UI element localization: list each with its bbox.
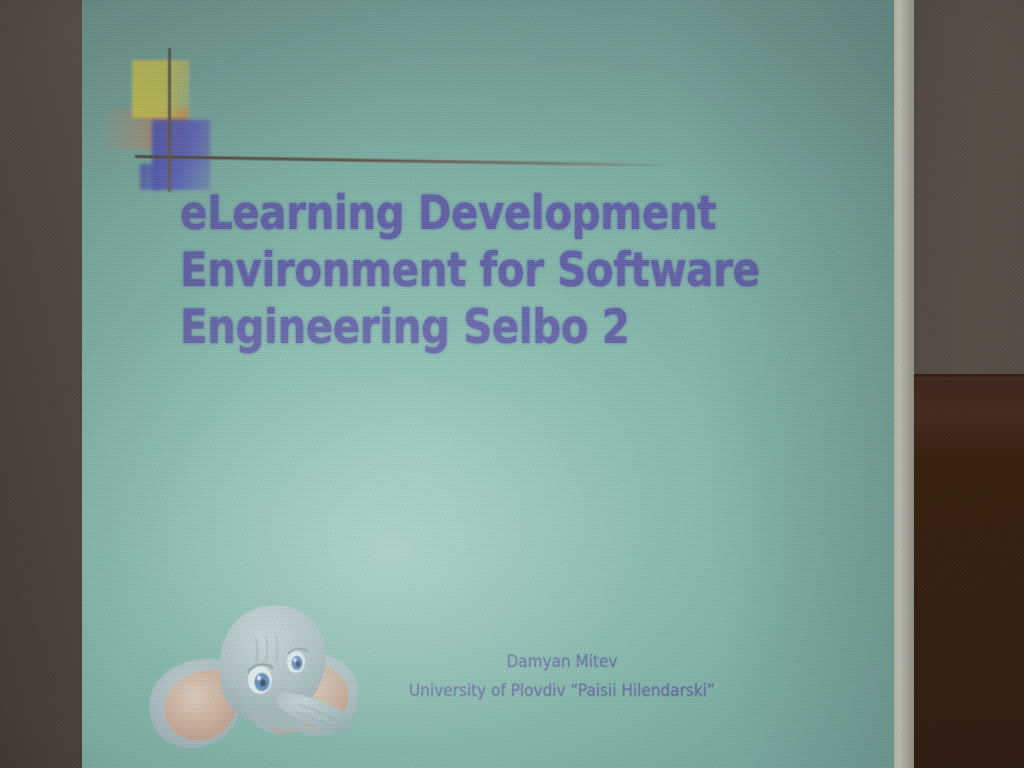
yellow-square-icon — [132, 60, 190, 118]
slide-title-line-3: Engineering Selbo 2 — [180, 299, 748, 356]
credits-affiliation: University of Plovdiv “Paisii Hilendarsk… — [310, 677, 814, 706]
vertical-rule — [168, 48, 171, 192]
slide-title-line-2: Environment for Software — [180, 242, 748, 299]
projection-screen-frame — [891, 0, 914, 768]
credits-author: Damyan Mitev — [310, 648, 814, 677]
slide-title-line-1: eLearning Development — [180, 185, 748, 242]
left-wall — [0, 0, 86, 768]
wood-grain-texture — [912, 0, 1024, 768]
projection-screen: eLearning Development Environment for So… — [82, 0, 894, 768]
projected-slide-photo: eLearning Development Environment for So… — [0, 0, 1024, 768]
slide-surface: eLearning Development Environment for So… — [82, 0, 894, 768]
slide-title: eLearning Development Environment for So… — [180, 185, 748, 356]
horizontal-rule — [135, 155, 663, 167]
slide-credits: Damyan Mitev University of Plovdiv “Pais… — [310, 648, 814, 706]
